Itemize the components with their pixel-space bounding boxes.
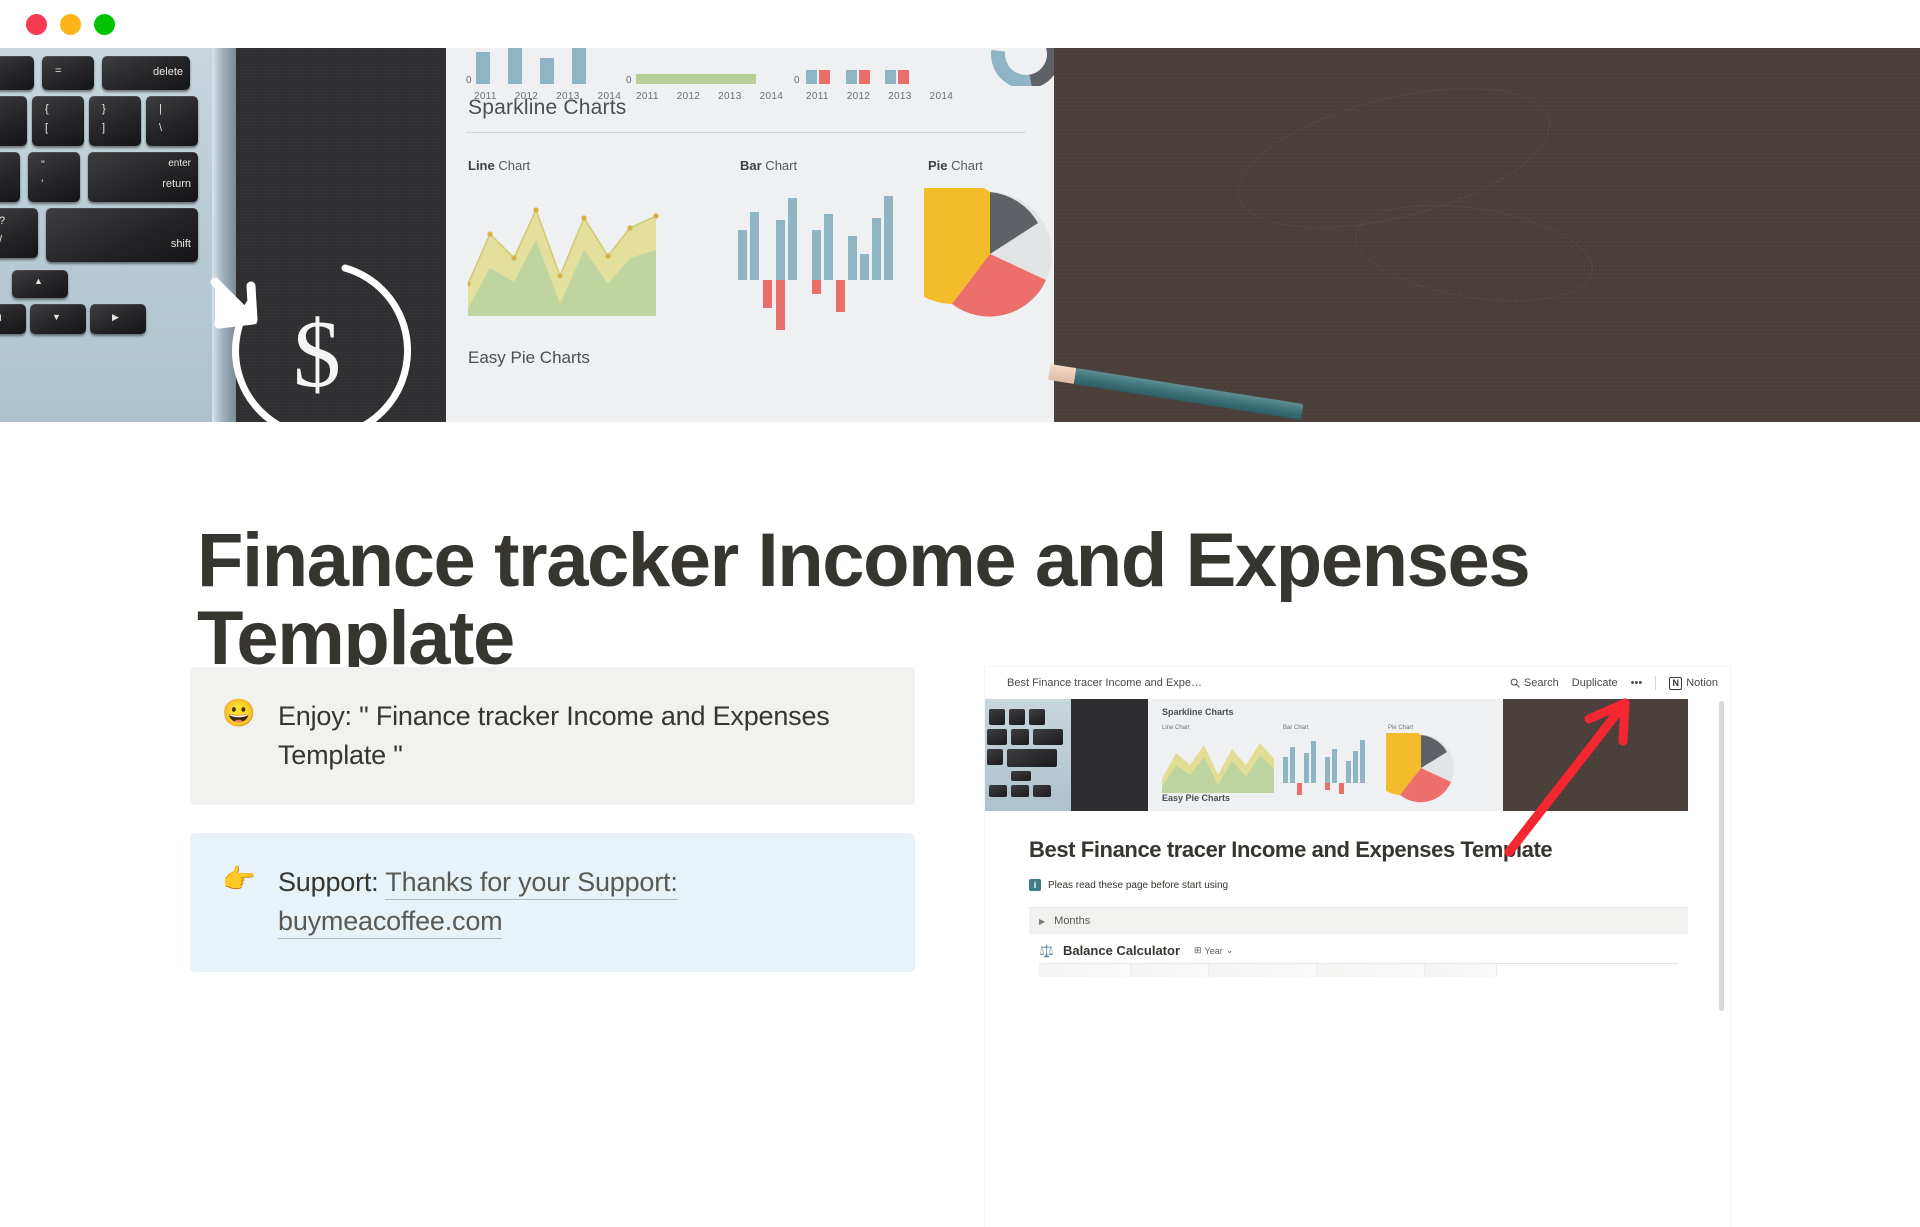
- preview-table-col: [1209, 964, 1317, 977]
- maximize-window-button[interactable]: [94, 14, 115, 35]
- preview-label-pie-chart: Pie Chart: [1388, 725, 1413, 731]
- info-icon: i: [1029, 879, 1041, 891]
- callout-support-text: Support: Thanks for your Support: buymea…: [278, 863, 885, 941]
- hero-report-section-title: Sparkline Charts: [468, 96, 626, 120]
- preview-info-text: Pleas read these page before start using: [1048, 880, 1228, 891]
- preview-breadcrumb[interactable]: Best Finance tracer Income and Expe…: [1007, 677, 1202, 689]
- preview-report-title: Sparkline Charts: [1162, 707, 1234, 717]
- preview-search-button[interactable]: Search: [1510, 677, 1559, 689]
- preview-database-header[interactable]: ⚖️ Balance Calculator ⊞ Year ⌄: [1029, 934, 1688, 963]
- page-title: Finance tracker Income and Expenses Temp…: [197, 522, 1617, 679]
- hero-report-divider: [466, 132, 1026, 133]
- preview-page-content: Best Finance tracer Income and Expenses …: [985, 811, 1730, 977]
- preview-table-col: [1039, 964, 1131, 977]
- preview-table-header-row: [1039, 963, 1678, 977]
- preview-report-footer-title: Easy Pie Charts: [1162, 793, 1230, 803]
- chevron-right-icon: ▶: [1039, 917, 1045, 926]
- left-column: 😀 Enjoy: " Finance tracker Income and Ex…: [190, 667, 915, 1227]
- table-view-icon: ⊞: [1194, 945, 1202, 956]
- preview-actions: Search Duplicate ••• N Notion: [1510, 676, 1718, 690]
- preview-table-col: [1131, 964, 1209, 977]
- preview-notion-brand[interactable]: N Notion: [1669, 677, 1718, 690]
- hero-printed-report: 0 2011201220132014 0 2011201220132014 0: [446, 48, 1054, 422]
- preview-duplicate-button[interactable]: Duplicate: [1572, 677, 1618, 689]
- laptop-bezel: [212, 48, 236, 422]
- content-columns: 😀 Enjoy: " Finance tracker Income and Ex…: [190, 667, 1730, 1227]
- preview-topbar: Best Finance tracer Income and Expe… Sea…: [985, 667, 1730, 699]
- close-window-button[interactable]: [26, 14, 47, 35]
- minimize-window-button[interactable]: [60, 14, 81, 35]
- hero-dark-notebook: [236, 48, 446, 422]
- preview-vertical-scrollbar[interactable]: [1719, 701, 1724, 1011]
- template-preview-card[interactable]: Best Finance tracer Income and Expe… Sea…: [985, 667, 1730, 1227]
- preview-database-title: Balance Calculator: [1063, 943, 1180, 958]
- balance-scale-emoji: ⚖️: [1039, 944, 1054, 958]
- notion-logo-icon: N: [1669, 677, 1682, 690]
- right-column: Best Finance tracer Income and Expe… Sea…: [985, 667, 1730, 1227]
- callout-enjoy-text: Enjoy: " Finance tracker Income and Expe…: [278, 697, 885, 775]
- preview-printed-report: Sparkline Charts Line Chart Bar Chart Pi…: [1148, 699, 1503, 811]
- preview-label-line-chart: Line Chart: [1162, 725, 1190, 731]
- preview-toggle-months[interactable]: ▶ Months: [1029, 907, 1688, 934]
- preview-table-col: [1317, 964, 1425, 977]
- preview-notion-label: Notion: [1686, 677, 1718, 689]
- traffic-lights: [26, 14, 115, 35]
- preview-more-menu-button[interactable]: •••: [1631, 677, 1643, 689]
- callout-enjoy: 😀 Enjoy: " Finance tracker Income and Ex…: [190, 667, 915, 805]
- hero-keyboard-region: - = delete {[ }] |\ ”’ enterreturn ?/ sh…: [0, 48, 235, 422]
- preview-duplicate-label: Duplicate: [1572, 677, 1618, 689]
- search-icon: [1510, 678, 1520, 688]
- chevron-down-icon: ⌄: [1226, 945, 1234, 956]
- callout-support-label: Support:: [278, 867, 385, 897]
- preview-leather-desk: [1503, 699, 1688, 811]
- preview-toolbar-divider: [1655, 676, 1656, 690]
- preview-search-label: Search: [1524, 677, 1559, 689]
- hero-leather-desk: [1054, 48, 1920, 422]
- hero-label-line-chart: Line Chart: [468, 158, 530, 173]
- preview-table-col: [1425, 964, 1497, 977]
- hero-label-bar-chart: Bar Chart: [740, 158, 797, 173]
- hero-report-footer-title: Easy Pie Charts: [468, 348, 590, 368]
- preview-cover-image: Sparkline Charts Line Chart Bar Chart Pi…: [985, 699, 1688, 811]
- preview-database-view-tab[interactable]: ⊞ Year ⌄: [1194, 945, 1233, 956]
- preview-dark-notebook: [1071, 699, 1148, 811]
- more-dots-icon: •••: [1631, 677, 1643, 689]
- preview-info-callout: i Pleas read these page before start usi…: [1029, 879, 1688, 891]
- preview-keyboard-region: [985, 699, 1071, 811]
- window-title-bar: [0, 0, 1920, 48]
- preview-view-label: Year: [1205, 946, 1223, 956]
- hero-cover-image: - = delete {[ }] |\ ”’ enterreturn ?/ sh…: [0, 48, 1920, 422]
- preview-toggle-label: Months: [1054, 915, 1090, 927]
- preview-label-bar-chart: Bar Chart: [1283, 725, 1309, 731]
- preview-page-heading: Best Finance tracer Income and Expenses …: [1029, 837, 1688, 863]
- pointing-right-emoji: 👉: [222, 863, 256, 941]
- grinning-face-emoji: 😀: [222, 697, 256, 775]
- callout-support: 👉 Support: Thanks for your Support: buym…: [190, 833, 915, 971]
- hero-label-pie-chart: Pie Chart: [928, 158, 983, 173]
